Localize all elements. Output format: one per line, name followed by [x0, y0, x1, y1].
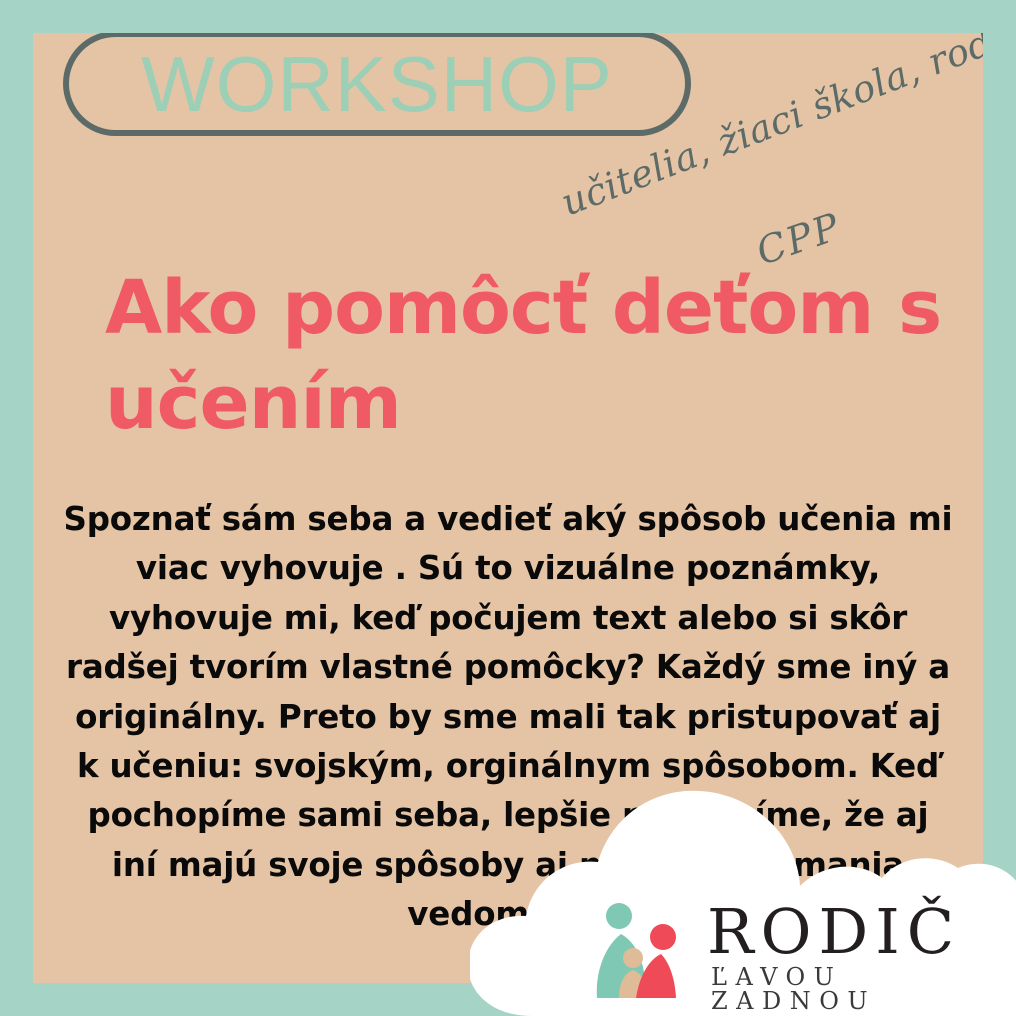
- logo-wordmark: RODIČ ĽAVOU ZADNOU: [707, 898, 1005, 1013]
- logo-word: RODIČ: [707, 900, 1005, 963]
- logo: RODIČ ĽAVOU ZADNOU: [585, 898, 1005, 1010]
- workshop-badge: WORKSHOP: [63, 33, 691, 136]
- body-paragraph: Spoznať sám seba a vedieť aký spôsob uče…: [63, 495, 953, 940]
- poster-canvas: WORKSHOP učitelia, žiaci škola, rodičia,…: [0, 0, 1016, 1016]
- headline-title: Ako pomôcť deťom s učením: [105, 261, 975, 450]
- workshop-badge-label: WORKSHOP: [141, 45, 613, 123]
- logo-tagline: ĽAVOU ZADNOU: [711, 965, 1005, 1013]
- inner-panel: WORKSHOP učitelia, žiaci škola, rodičia,…: [33, 33, 983, 983]
- rodic-logo-mark-icon: [585, 900, 693, 1004]
